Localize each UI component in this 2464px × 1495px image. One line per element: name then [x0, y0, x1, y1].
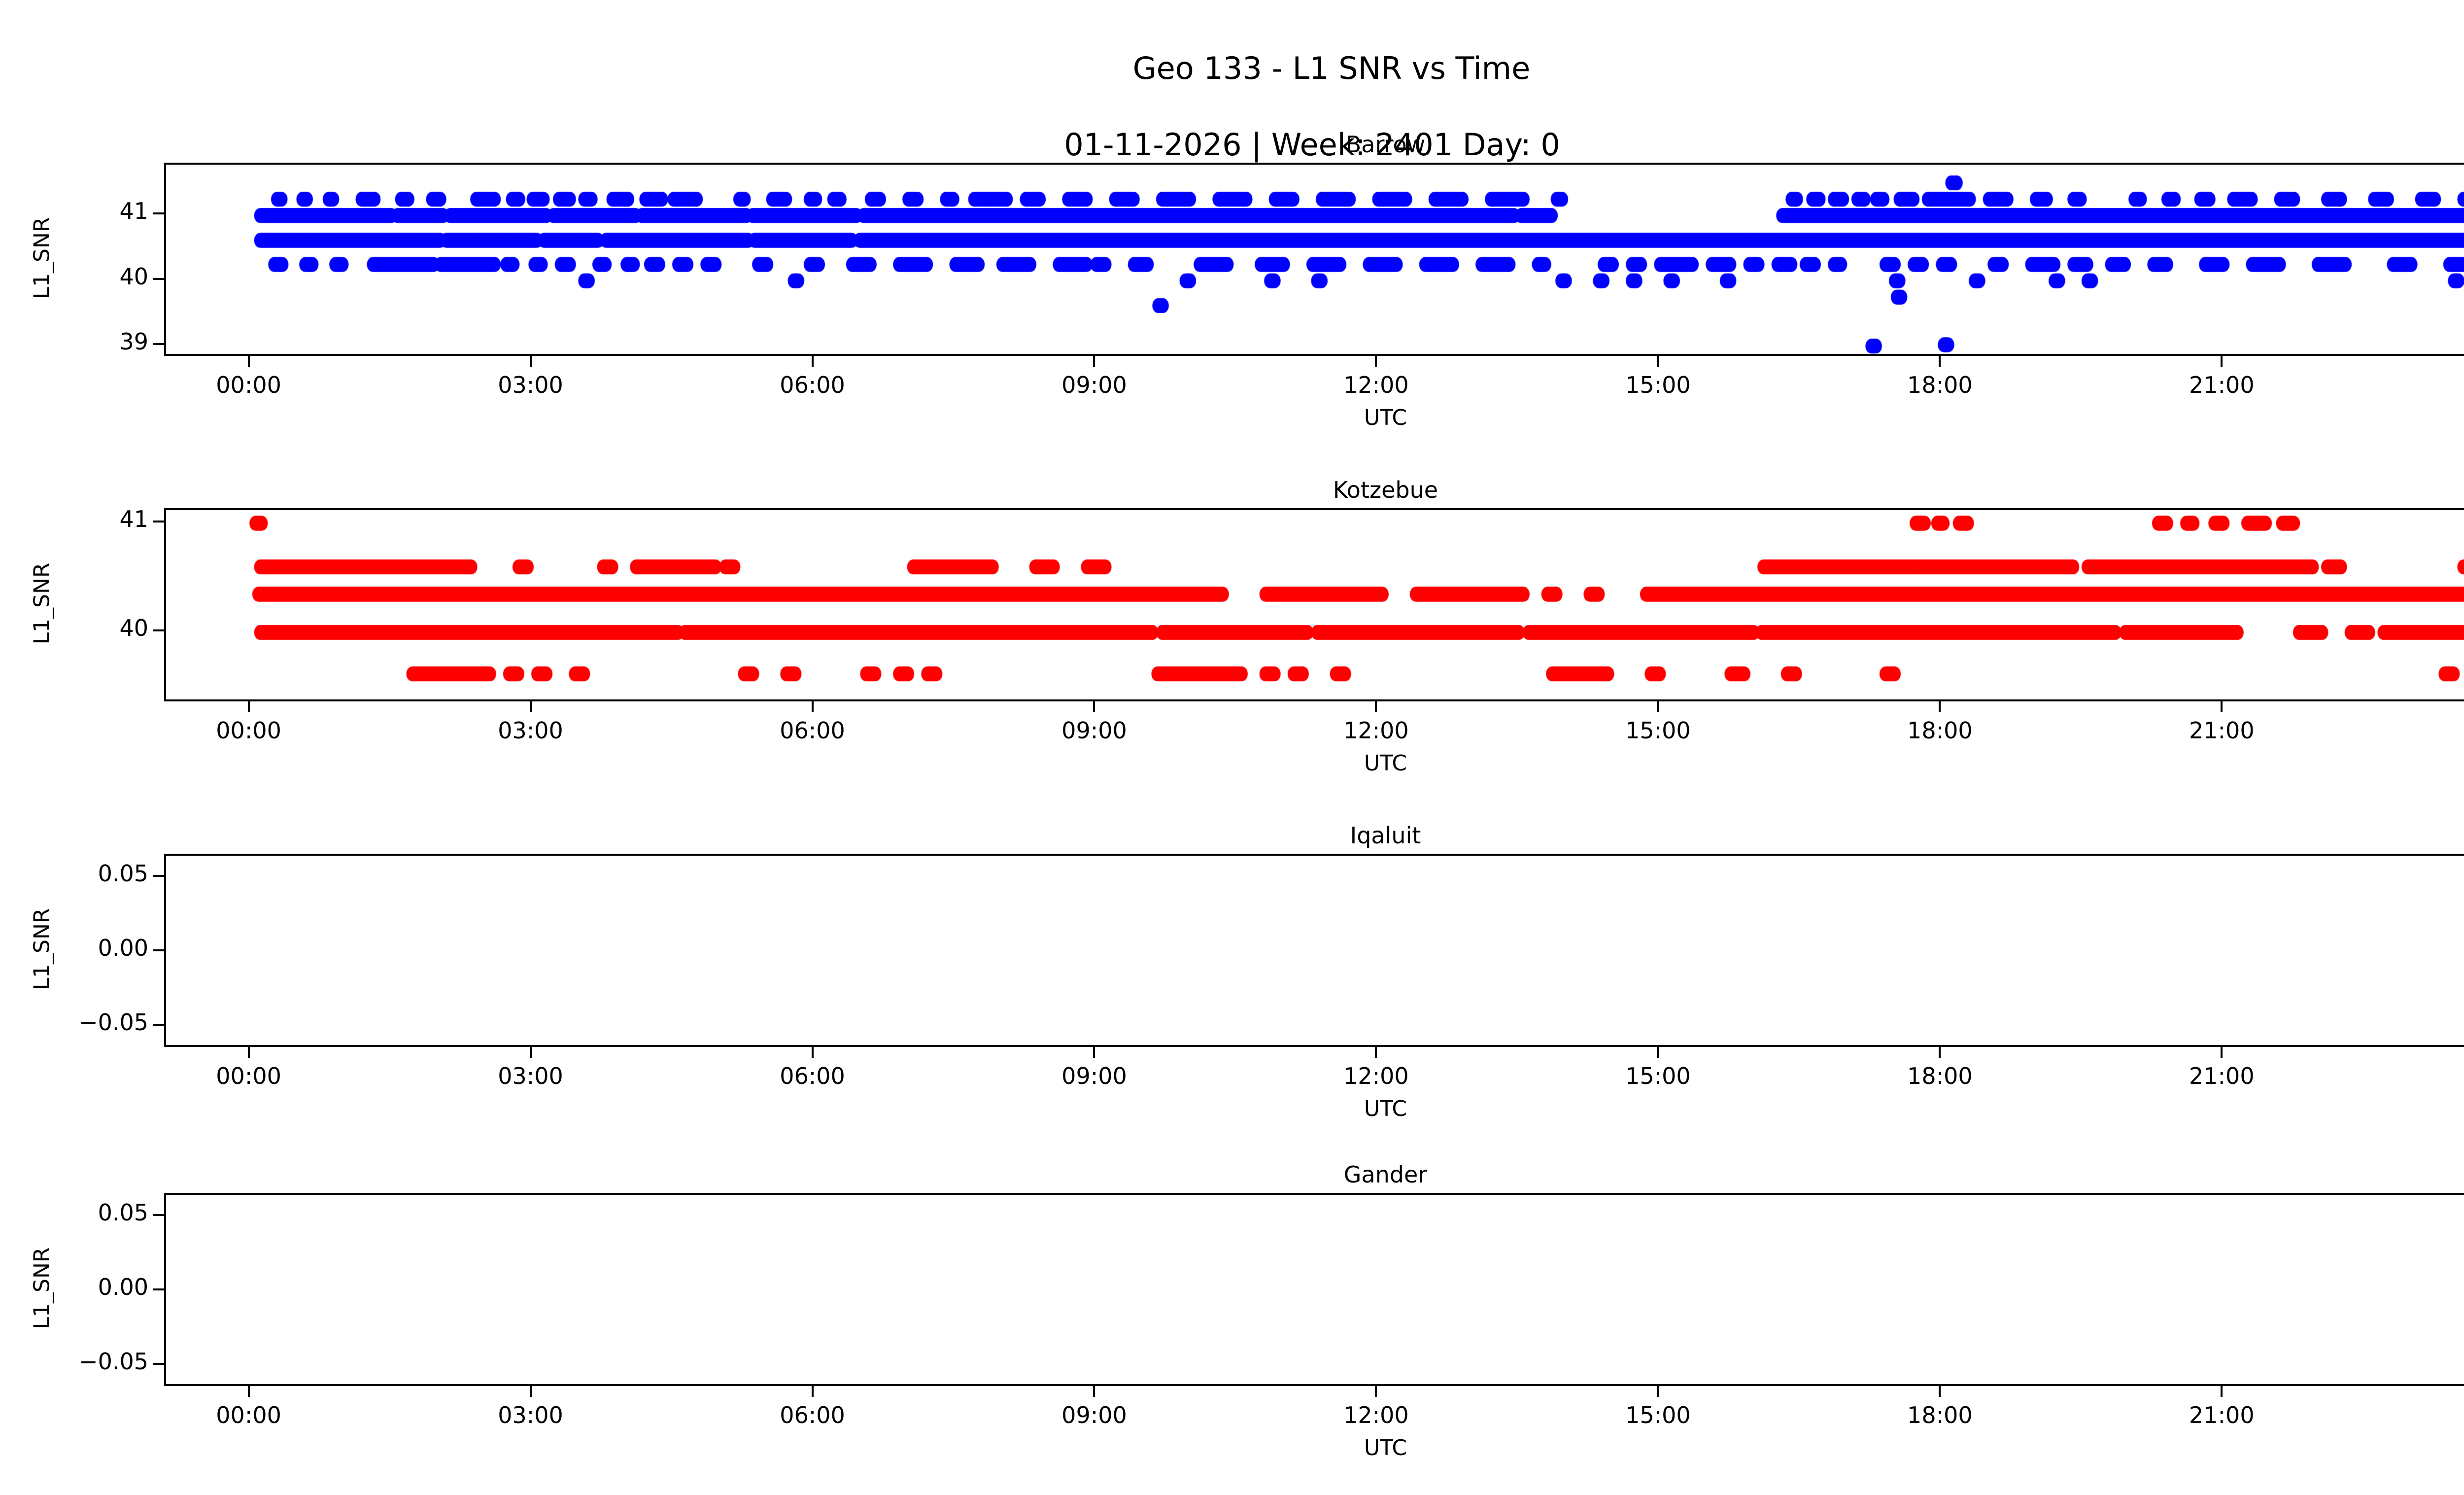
x-tick-label: 15:00	[1584, 1402, 1732, 1428]
y-tick-mark	[153, 875, 164, 877]
x-tick-label: 18:00	[1866, 717, 2014, 744]
x-tick-label: 18:00	[1866, 1063, 2014, 1089]
subplot-title: Kotzebue	[164, 477, 2464, 503]
x-tick-mark	[1657, 1386, 1659, 1397]
x-tick-label: 09:00	[1020, 372, 1168, 398]
x-tick-label: 00:00	[2430, 717, 2464, 744]
x-tick-mark	[1939, 1386, 1941, 1397]
figure-title-line-1: Geo 133 - L1 SNR vs Time	[1133, 50, 1531, 86]
x-tick-mark	[2221, 1047, 2223, 1058]
y-tick-label: 40	[50, 263, 148, 290]
x-axis-label: UTC	[164, 751, 2464, 776]
x-tick-mark	[530, 356, 532, 367]
x-axis-label: UTC	[164, 405, 2464, 430]
y-tick-mark	[153, 629, 164, 631]
x-tick-label: 00:00	[2430, 1402, 2464, 1428]
y-tick-label: 0.00	[50, 935, 148, 961]
figure-title-line-2: 01-11-2026 | Week: 2401 Day: 0	[0, 126, 2464, 164]
y-tick-label: 39	[50, 328, 148, 355]
y-tick-label: 41	[50, 506, 148, 532]
x-tick-label: 21:00	[2148, 717, 2295, 744]
x-tick-mark	[1093, 1047, 1095, 1058]
y-axis-label: L1_SNR	[30, 507, 55, 700]
x-axis-label: UTC	[164, 1096, 2464, 1121]
x-tick-label: 00:00	[2430, 372, 2464, 398]
x-tick-label: 00:00	[175, 1402, 323, 1428]
subplot-title: Gander	[164, 1161, 2464, 1188]
x-tick-label: 00:00	[175, 372, 323, 398]
x-axis-label: UTC	[164, 1435, 2464, 1460]
y-tick-mark	[153, 949, 164, 951]
y-tick-mark	[153, 521, 164, 522]
x-tick-mark	[248, 1047, 250, 1058]
y-tick-label: −0.05	[50, 1348, 148, 1375]
x-tick-mark	[248, 1386, 250, 1397]
x-tick-label: 00:00	[175, 1063, 323, 1089]
x-tick-label: 09:00	[1020, 1402, 1168, 1428]
x-tick-mark	[812, 356, 814, 367]
y-tick-label: 40	[50, 615, 148, 641]
x-tick-mark	[530, 1047, 532, 1058]
x-tick-mark	[2221, 701, 2223, 712]
x-tick-mark	[248, 701, 250, 712]
x-tick-label: 12:00	[1302, 372, 1450, 398]
x-tick-mark	[1939, 701, 1941, 712]
x-tick-mark	[1939, 1047, 1941, 1058]
x-tick-label: 15:00	[1584, 717, 1732, 744]
x-tick-mark	[1093, 1386, 1095, 1397]
scatter-plot-canvas	[166, 510, 2464, 701]
subplot-title: Iqaluit	[164, 822, 2464, 849]
x-tick-mark	[812, 1047, 814, 1058]
y-tick-mark	[153, 1024, 164, 1026]
x-tick-mark	[1375, 356, 1377, 367]
x-tick-label: 21:00	[2148, 1063, 2295, 1089]
x-tick-label: 12:00	[1302, 1402, 1450, 1428]
x-tick-mark	[1375, 701, 1377, 712]
x-tick-mark	[2221, 1386, 2223, 1397]
x-tick-label: 00:00	[175, 717, 323, 744]
x-tick-label: 03:00	[457, 1402, 605, 1428]
y-tick-mark	[153, 343, 164, 345]
x-tick-mark	[2221, 356, 2223, 367]
y-tick-label: −0.05	[50, 1009, 148, 1036]
axes-frame	[164, 1193, 2464, 1386]
x-tick-label: 06:00	[739, 1402, 887, 1428]
x-tick-label: 18:00	[1866, 1402, 2014, 1428]
y-tick-mark	[153, 1363, 164, 1365]
x-tick-label: 12:00	[1302, 717, 1450, 744]
y-tick-mark	[153, 1214, 164, 1216]
axes-frame	[164, 854, 2464, 1047]
x-tick-mark	[1375, 1047, 1377, 1058]
x-tick-label: 03:00	[457, 372, 605, 398]
y-tick-label: 0.05	[50, 1199, 148, 1226]
scatter-plot-canvas	[166, 1195, 2464, 1386]
y-tick-label: 0.00	[50, 1274, 148, 1300]
y-tick-label: 0.05	[50, 860, 148, 887]
y-tick-mark	[153, 1288, 164, 1290]
x-tick-label: 18:00	[1866, 372, 2014, 398]
x-tick-mark	[1375, 1386, 1377, 1397]
x-tick-label: 09:00	[1020, 1063, 1168, 1089]
figure-title: Geo 133 - L1 SNR vs Time 01-11-2026 | We…	[0, 11, 2464, 240]
x-tick-mark	[1093, 701, 1095, 712]
x-tick-mark	[1657, 356, 1659, 367]
x-tick-label: 12:00	[1302, 1063, 1450, 1089]
x-tick-mark	[812, 701, 814, 712]
y-axis-label: L1_SNR	[30, 853, 55, 1046]
x-tick-mark	[530, 1386, 532, 1397]
x-tick-mark	[1939, 356, 1941, 367]
x-tick-label: 00:00	[2430, 1063, 2464, 1089]
x-tick-mark	[248, 356, 250, 367]
x-tick-label: 03:00	[457, 1063, 605, 1089]
x-tick-mark	[1657, 1047, 1659, 1058]
x-tick-label: 21:00	[2148, 372, 2295, 398]
x-tick-mark	[1657, 701, 1659, 712]
axes-frame	[164, 508, 2464, 701]
y-tick-mark	[153, 278, 164, 280]
x-tick-label: 03:00	[457, 717, 605, 744]
x-tick-label: 06:00	[739, 1063, 887, 1089]
y-axis-label: L1_SNR	[30, 1192, 55, 1385]
x-tick-label: 21:00	[2148, 1402, 2295, 1428]
x-tick-mark	[812, 1386, 814, 1397]
x-tick-label: 15:00	[1584, 372, 1732, 398]
scatter-plot-canvas	[166, 856, 2464, 1047]
x-tick-label: 06:00	[739, 717, 887, 744]
x-tick-label: 15:00	[1584, 1063, 1732, 1089]
x-tick-mark	[530, 701, 532, 712]
x-tick-label: 06:00	[739, 372, 887, 398]
x-tick-mark	[1093, 356, 1095, 367]
figure-root: Geo 133 - L1 SNR vs Time 01-11-2026 | We…	[0, 0, 2464, 1495]
x-tick-label: 09:00	[1020, 717, 1168, 744]
